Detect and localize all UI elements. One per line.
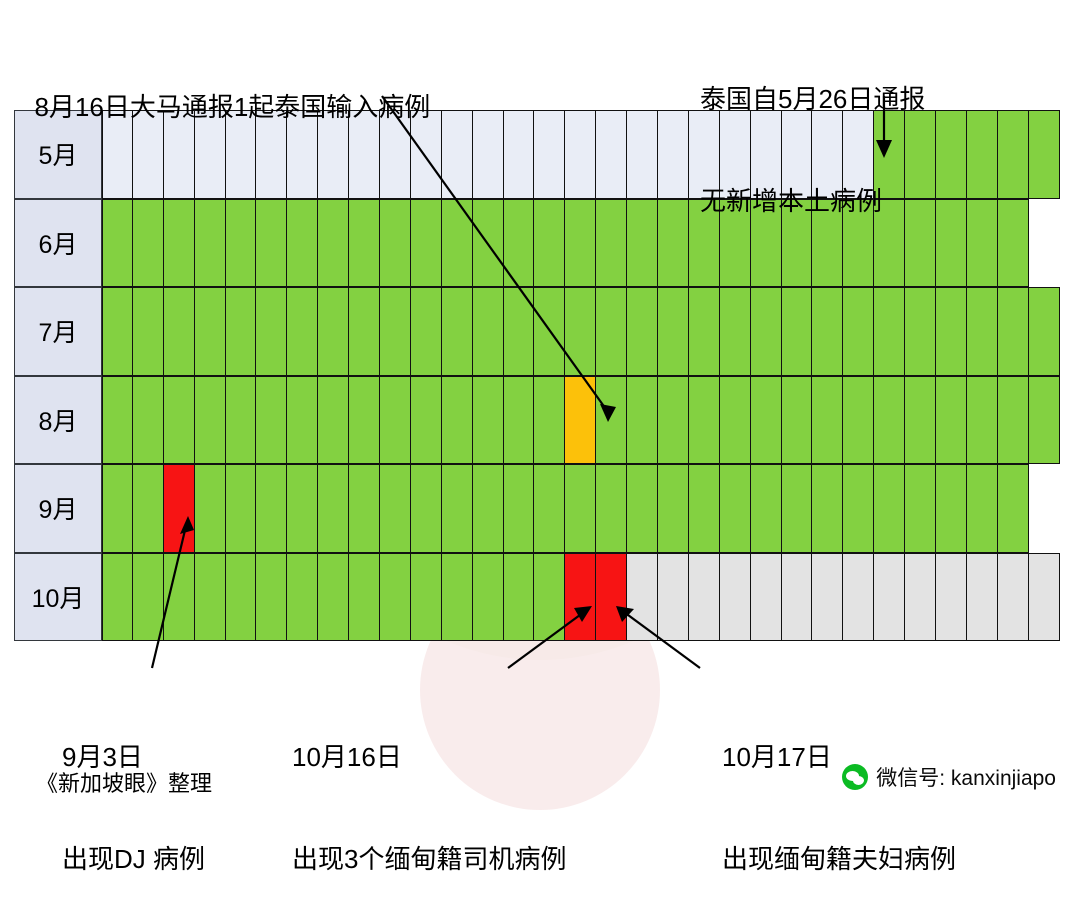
heatmap-cell — [658, 110, 689, 199]
heatmap-cell — [164, 464, 195, 553]
heatmap-cell — [534, 376, 565, 465]
heatmap-cell — [565, 199, 596, 288]
heatmap-cell — [195, 199, 226, 288]
annotation-thailand-line1: 泰国自5月26日通报 — [700, 82, 925, 116]
heatmap-cell — [133, 376, 164, 465]
heatmap-cell — [442, 199, 473, 288]
heatmap-cell — [843, 287, 874, 376]
row-label-4: 8月 — [14, 376, 102, 465]
heatmap-cell — [998, 110, 1029, 199]
heatmap-cell — [102, 464, 133, 553]
heatmap-cell — [720, 376, 751, 465]
heatmap-cell — [133, 553, 164, 642]
heatmap-cell — [658, 199, 689, 288]
heatmap-cell — [442, 110, 473, 199]
heatmap-cell — [504, 287, 535, 376]
heatmap-cell — [720, 553, 751, 642]
heatmap-cell — [905, 553, 936, 642]
heatmap-cell — [226, 199, 257, 288]
heatmap-cell — [349, 199, 380, 288]
heatmap-cell — [380, 553, 411, 642]
annotation-thailand: 泰国自5月26日通报 无新增本土病例 — [700, 14, 925, 252]
annotation-sep3-line2: 出现DJ 病例 — [62, 842, 205, 876]
heatmap-cell — [967, 199, 998, 288]
heatmap-cell — [256, 199, 287, 288]
heatmap-cell — [998, 553, 1029, 642]
heatmap-cell — [1029, 553, 1060, 642]
heatmap-cell — [843, 553, 874, 642]
heatmap-cell — [504, 376, 535, 465]
heatmap-cells — [102, 553, 1066, 642]
heatmap-cell — [473, 464, 504, 553]
heatmap-cell — [534, 464, 565, 553]
heatmap-cell — [565, 287, 596, 376]
heatmap-cell — [627, 110, 658, 199]
heatmap-cell — [751, 376, 782, 465]
heatmap-cell — [442, 376, 473, 465]
heatmap-cell — [256, 553, 287, 642]
heatmap-cell — [627, 199, 658, 288]
heatmap-cell — [442, 287, 473, 376]
heatmap-cell — [318, 464, 349, 553]
heatmap-cell — [195, 464, 226, 553]
heatmap-cell — [967, 553, 998, 642]
heatmap-cell — [874, 376, 905, 465]
heatmap-row: 7月 — [14, 287, 1066, 376]
heatmap-cell — [226, 287, 257, 376]
heatmap-cell — [967, 287, 998, 376]
heatmap-cell — [164, 199, 195, 288]
heatmap-cell — [1029, 110, 1060, 199]
heatmap-cell — [318, 199, 349, 288]
heatmap-cell — [843, 376, 874, 465]
heatmap-cell — [102, 376, 133, 465]
heatmap-cell — [689, 553, 720, 642]
heatmap-cell — [164, 376, 195, 465]
heatmap-cell — [133, 464, 164, 553]
heatmap-cell — [596, 376, 627, 465]
heatmap-cell — [905, 464, 936, 553]
heatmap-cell — [874, 464, 905, 553]
heatmap-cell — [473, 199, 504, 288]
heatmap-cell — [689, 376, 720, 465]
heatmap-cell — [380, 199, 411, 288]
heatmap-cell — [658, 287, 689, 376]
heatmap-cell — [689, 464, 720, 553]
wechat-label: 微信号: kanxinjiapo — [876, 762, 1056, 792]
heatmap-cell — [504, 110, 535, 199]
heatmap-cell — [905, 287, 936, 376]
heatmap-cell — [226, 464, 257, 553]
heatmap-cell — [226, 553, 257, 642]
heatmap-cell — [411, 376, 442, 465]
heatmap-cells — [102, 287, 1066, 376]
heatmap-cell — [380, 376, 411, 465]
annotation-aug16: 8月16日大马通报1起泰国输入病例 — [20, 56, 430, 124]
heatmap-cell — [256, 464, 287, 553]
heatmap-cell — [473, 376, 504, 465]
heatmap-cell — [318, 553, 349, 642]
annotation-oct16: 10月16日 出现3个缅甸籍司机病例 — [292, 672, 566, 910]
heatmap-cell — [565, 553, 596, 642]
heatmap-cell — [534, 553, 565, 642]
heatmap-cell — [936, 376, 967, 465]
row-label-3: 7月 — [14, 287, 102, 376]
heatmap-cell — [1029, 376, 1060, 465]
heatmap-cell — [133, 199, 164, 288]
heatmap-cell — [102, 287, 133, 376]
heatmap-row: 8月 — [14, 376, 1066, 465]
heatmap-row: 9月 — [14, 464, 1066, 553]
heatmap-cell — [349, 376, 380, 465]
heatmap-cell — [967, 376, 998, 465]
heatmap-cell — [627, 376, 658, 465]
heatmap-cell — [287, 464, 318, 553]
heatmap-cell — [905, 376, 936, 465]
heatmap-cell — [627, 464, 658, 553]
row-label-6: 10月 — [14, 553, 102, 642]
heatmap-cell — [936, 553, 967, 642]
heatmap-cell — [1029, 199, 1060, 288]
heatmap-cell — [936, 464, 967, 553]
heatmap-row: 10月 — [14, 553, 1066, 642]
heatmap-cell — [782, 376, 813, 465]
heatmap-cell — [133, 287, 164, 376]
heatmap-cell — [411, 287, 442, 376]
heatmap-cell — [504, 464, 535, 553]
heatmap-cell — [689, 287, 720, 376]
heatmap-cells — [102, 464, 1066, 553]
heatmap-cell — [565, 110, 596, 199]
heatmap-cell — [596, 553, 627, 642]
heatmap-cell — [936, 110, 967, 199]
heatmap-cell — [534, 110, 565, 199]
heatmap-cell — [349, 287, 380, 376]
heatmap-cell — [411, 464, 442, 553]
heatmap-cell — [627, 287, 658, 376]
heatmap-cell — [812, 287, 843, 376]
heatmap-cells — [102, 376, 1066, 465]
heatmap-cell — [812, 464, 843, 553]
heatmap-cell — [782, 553, 813, 642]
heatmap-cell — [658, 553, 689, 642]
heatmap-cell — [627, 553, 658, 642]
heatmap-cell — [998, 376, 1029, 465]
heatmap-cell — [534, 199, 565, 288]
heatmap-cell — [720, 464, 751, 553]
heatmap-cell — [596, 464, 627, 553]
heatmap-cell — [287, 287, 318, 376]
heatmap-cell — [164, 287, 195, 376]
heatmap-cell — [195, 287, 226, 376]
heatmap-cell — [936, 199, 967, 288]
heatmap-cell — [102, 199, 133, 288]
heatmap-cell — [967, 464, 998, 553]
annotation-oct16-line1: 10月16日 — [292, 740, 566, 774]
row-label-5: 9月 — [14, 464, 102, 553]
heatmap-cell — [256, 376, 287, 465]
heatmap-cell — [874, 287, 905, 376]
heatmap-cell — [534, 287, 565, 376]
heatmap-cell — [380, 287, 411, 376]
wechat-badge: 微信号: kanxinjiapo — [842, 762, 1056, 792]
heatmap-cell — [565, 464, 596, 553]
heatmap-cell — [442, 553, 473, 642]
heatmap-cell — [998, 464, 1029, 553]
heatmap-cell — [504, 553, 535, 642]
heatmap-cell — [287, 553, 318, 642]
annotation-oct17-line2: 出现缅甸籍夫妇病例 — [722, 842, 956, 876]
heatmap-cell — [195, 376, 226, 465]
heatmap-cell — [473, 110, 504, 199]
credit-text: 《新加坡眼》整理 — [36, 766, 212, 798]
heatmap-cell — [226, 376, 257, 465]
heatmap-cell — [812, 553, 843, 642]
heatmap-cell — [1029, 464, 1060, 553]
heatmap-cell — [473, 553, 504, 642]
heatmap-cell — [380, 464, 411, 553]
heatmap-cell — [596, 287, 627, 376]
heatmap-cell — [936, 287, 967, 376]
annotation-aug16-text: 8月16日大马通报1起泰国输入病例 — [34, 92, 430, 122]
heatmap-cell — [411, 553, 442, 642]
heatmap-cell — [998, 287, 1029, 376]
heatmap-cell — [720, 287, 751, 376]
annotation-thailand-line2: 无新增本土病例 — [700, 184, 925, 218]
heatmap-cell — [349, 464, 380, 553]
heatmap-cell — [411, 199, 442, 288]
heatmap-cell — [874, 553, 905, 642]
heatmap-cell — [287, 376, 318, 465]
heatmap-cell — [473, 287, 504, 376]
heatmap-cell — [843, 464, 874, 553]
wechat-icon — [842, 764, 868, 790]
heatmap-cell — [1029, 287, 1060, 376]
heatmap-cell — [782, 287, 813, 376]
heatmap-cell — [751, 287, 782, 376]
heatmap-cell — [164, 553, 195, 642]
heatmap-cell — [658, 376, 689, 465]
annotation-oct16-line2: 出现3个缅甸籍司机病例 — [292, 842, 566, 876]
heatmap-cell — [751, 464, 782, 553]
heatmap-cell — [967, 110, 998, 199]
heatmap-cell — [596, 110, 627, 199]
heatmap-cell — [596, 199, 627, 288]
heatmap-cell — [442, 464, 473, 553]
heatmap-cell — [287, 199, 318, 288]
heatmap-cell — [658, 464, 689, 553]
heatmap-cell — [195, 553, 226, 642]
heatmap-cell — [751, 553, 782, 642]
heatmap-cell — [565, 376, 596, 465]
heatmap-cell — [256, 287, 287, 376]
heatmap-cell — [504, 199, 535, 288]
heatmap-cell — [812, 376, 843, 465]
heatmap-cell — [318, 376, 349, 465]
heatmap-cell — [318, 287, 349, 376]
heatmap-cell — [782, 464, 813, 553]
heatmap-cell — [998, 199, 1029, 288]
heatmap-cell — [102, 553, 133, 642]
heatmap-cell — [349, 553, 380, 642]
row-label-2: 6月 — [14, 199, 102, 288]
